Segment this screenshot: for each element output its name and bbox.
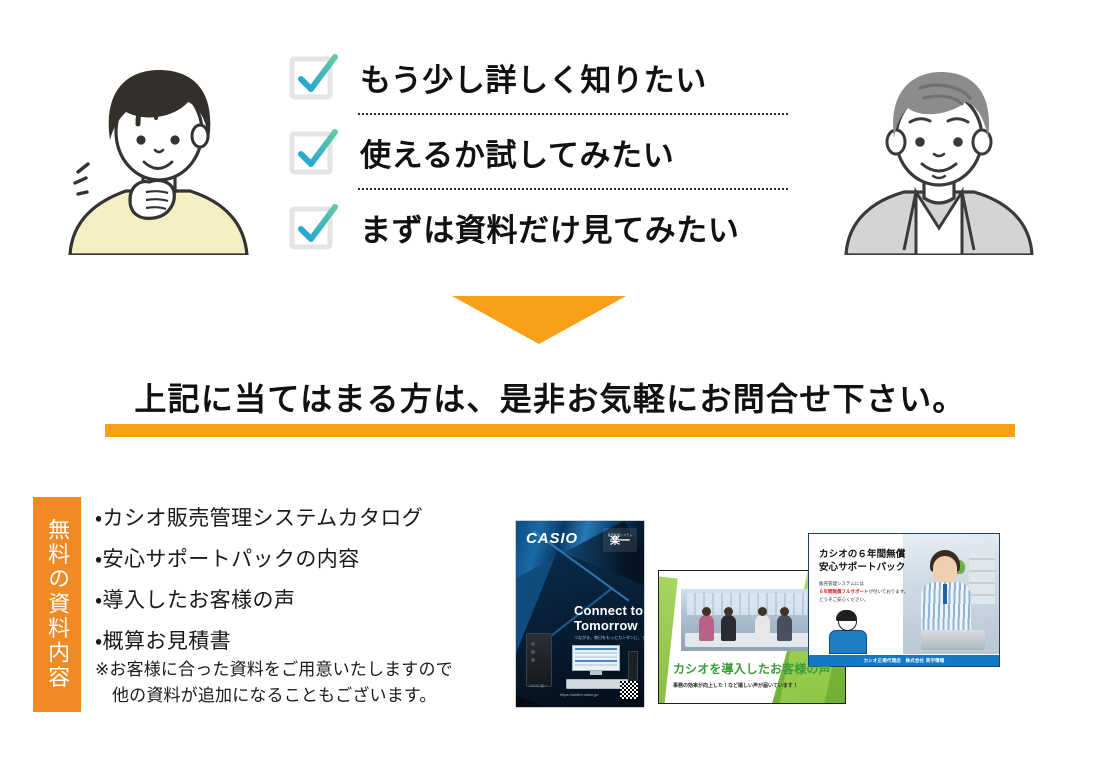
support-title-line-1: カシオの６年間無償 (819, 548, 905, 561)
voice-meeting-photo (681, 589, 813, 651)
support-woman-laptop-photo (903, 534, 999, 654)
catalog-pc-model-label: CASIO 楽一 (527, 684, 549, 689)
catalog-tower-image (628, 651, 638, 683)
support-body-line-1: 販売管理システムには (819, 580, 908, 588)
checkbox-checked-icon (288, 128, 338, 178)
support-body-line-2: が付いております。 (869, 589, 909, 594)
thinking-woman-illustration (48, 40, 270, 255)
orange-divider-bar (105, 424, 1015, 437)
checklist-item-label: まずは資料だけ見てみたい (360, 205, 739, 250)
support-footer-bar: カシオ正規代理店 株式会社 英字情報 (809, 655, 999, 666)
catalog-desktop-pc-image (526, 633, 552, 687)
support-body-text: 販売管理システムには ６年間無償フルサポートが付いております。 どうぞご安心くだ… (819, 580, 908, 604)
support-title-line-2: 安心サポートパック (819, 561, 905, 574)
checklist-item: 使えるか試してみたい (288, 115, 788, 190)
checklist-item-label: 使えるか試してみたい (360, 130, 674, 175)
checklist-item: もう少し詳しく知りたい (288, 40, 788, 115)
catalog-tagline-sub: つながる、毎日をもっとカンタンに、ラクに。 (574, 635, 645, 641)
rakuichi-badge: 販売管理システム 楽一 (603, 528, 637, 552)
list-item: ・カシオ販売管理システムカタログ (95, 498, 515, 539)
arrow-down-triangle-icon (452, 296, 626, 344)
support-agent-illustration (825, 612, 871, 654)
brochure-catalog-thumbnail[interactable]: CASIO 販売管理システム 楽一 Connect to Tomorrow つな… (515, 520, 645, 708)
list-item: ・導入したお客様の声 (95, 580, 515, 621)
support-body-highlight: ６年間無償フルサポート (819, 589, 869, 594)
catalog-keyboard-image (566, 679, 628, 689)
checkbox-checked-icon (288, 53, 338, 103)
catalog-url-label: https://skdirh.casio.jp/ (560, 692, 598, 697)
checklist-item: まずは資料だけ見てみたい (288, 190, 788, 265)
list-item: ・概算お見積書 (95, 621, 515, 662)
catalog-tagline: Connect to Tomorrow つながる、毎日をもっとカンタンに、ラクに… (574, 603, 645, 641)
catalog-monitor-image (572, 645, 620, 675)
support-title: カシオの６年間無償 安心サポートパック (819, 548, 905, 574)
rakuichi-badge-label: 楽一 (610, 537, 630, 547)
free-materials-banner: 無料の資料内容 (33, 497, 81, 712)
checklist-item-label: もう少し詳しく知りたい (360, 55, 707, 100)
list-item: ・安心サポートパックの内容 (95, 539, 515, 580)
catalog-tagline-line-1: Connect to (574, 603, 645, 618)
catalog-tagline-line-2: Tomorrow (574, 618, 645, 633)
casio-logo: CASIO (526, 530, 578, 547)
materials-bullet-list: ・カシオ販売管理システムカタログ ・安心サポートパックの内容 ・導入したお客様の… (95, 498, 515, 662)
qr-code-icon (620, 681, 638, 699)
support-body-line-3: どうぞご安心ください。 (819, 596, 908, 604)
materials-note-line-2: 他の資料が追加になることもございます。 (95, 683, 515, 709)
checklist: もう少し詳しく知りたい 使えるか試してみたい (288, 40, 788, 265)
materials-note: ※お客様に合った資料をご用意いたしますので 他の資料が追加になることもございます… (95, 657, 515, 709)
voice-subtitle: 事務の効率が向上した！など嬉しい声が届いています！ (673, 682, 798, 689)
checkbox-checked-icon (288, 203, 338, 253)
voice-title: カシオを導入したお客様の声 (673, 660, 831, 677)
page-headline: 上記に当てはまる方は、是非お気軽にお問合せ下さい。 (0, 374, 1100, 420)
materials-note-line-1: ※お客様に合った資料をご用意いたしますので (95, 660, 453, 679)
hero-section: もう少し詳しく知りたい 使えるか試してみたい (0, 0, 1100, 270)
smiling-man-illustration (828, 50, 1050, 255)
brochure-support-pack-thumbnail[interactable]: カシオの６年間無償 安心サポートパック 販売管理システムには ６年間無償フルサポ… (808, 533, 1000, 667)
